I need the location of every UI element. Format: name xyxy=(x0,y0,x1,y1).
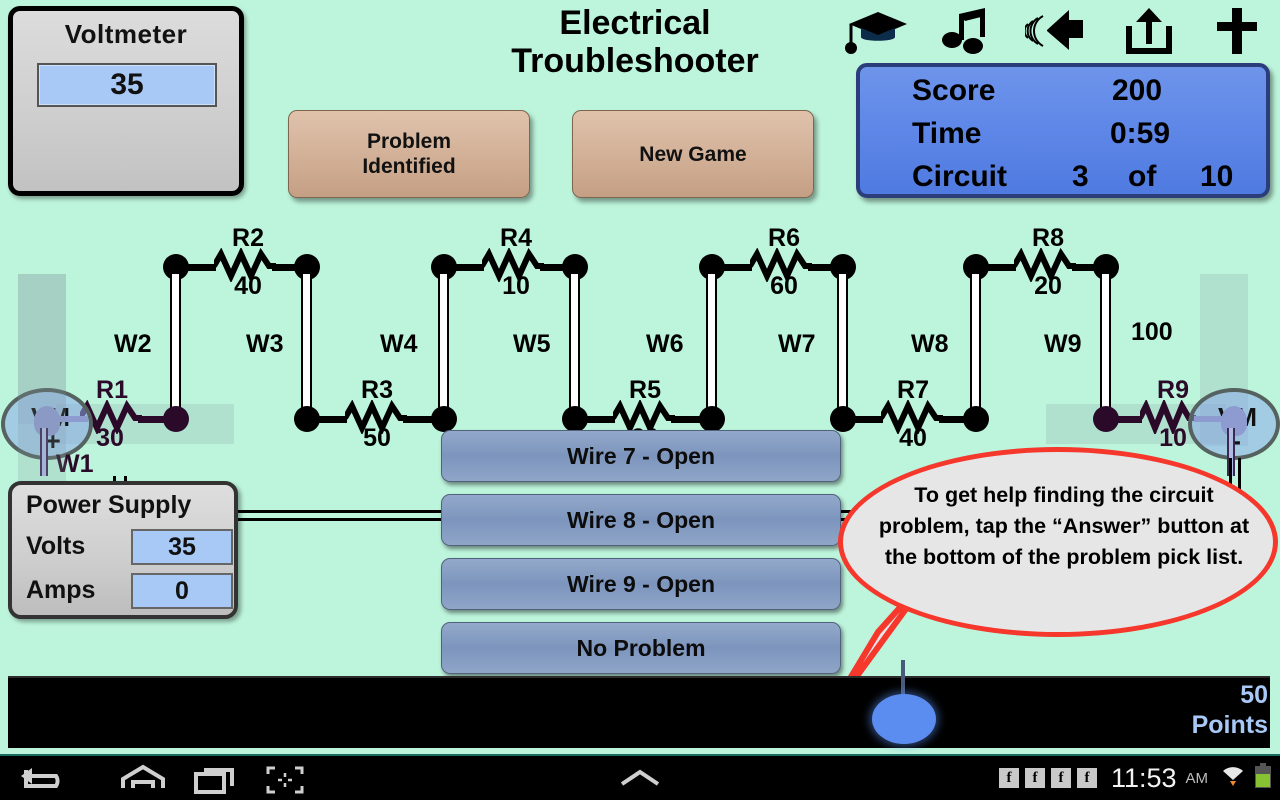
graduation-cap-icon[interactable] xyxy=(845,6,911,56)
wifi-icon[interactable] xyxy=(1220,763,1246,794)
page-title: Electrical Troubleshooter xyxy=(420,4,850,80)
problem-identified-label-line1: Problem xyxy=(362,129,455,154)
home-icon[interactable] xyxy=(113,764,173,796)
points-label: Points xyxy=(1128,710,1268,740)
app-screen: Voltmeter 35 Electrical Troubleshooter xyxy=(0,0,1280,800)
points-value: 50 xyxy=(1128,680,1268,710)
score-value: 200 xyxy=(1112,74,1162,108)
node-bot-3 xyxy=(431,406,457,432)
pick-item-wire7-open[interactable]: Wire 7 - Open xyxy=(441,430,841,482)
circuit-label: Circuit xyxy=(912,160,1007,194)
points-indicator: 50 Points xyxy=(1128,680,1268,740)
probe-highlight-ps xyxy=(18,274,66,509)
volts-label: Volts xyxy=(26,532,85,561)
time-label: Time xyxy=(912,117,981,151)
voltmeter-title: Voltmeter xyxy=(13,19,239,50)
amps-field[interactable]: 0 xyxy=(131,573,233,609)
wire-seg xyxy=(722,264,752,271)
wire-w4[interactable] xyxy=(438,272,449,420)
wire-w3[interactable] xyxy=(301,272,312,420)
wire-seg xyxy=(186,264,216,271)
resistor-label-r3: R3 xyxy=(327,376,427,405)
voltmeter-panel: Voltmeter 35 xyxy=(8,6,244,196)
page-title-line1: Electrical xyxy=(420,4,850,42)
page-title-line2: Troubleshooter xyxy=(420,42,850,80)
system-clock: 11:53 xyxy=(1111,763,1177,794)
wire-seg xyxy=(853,416,883,423)
wire-w7[interactable] xyxy=(837,272,848,420)
wire-w6[interactable] xyxy=(706,272,717,420)
wire-label-w4: W4 xyxy=(380,330,418,359)
hint-bubble-text: To get help finding the circuit problem,… xyxy=(873,480,1255,573)
resistor-value-r4: 10 xyxy=(464,272,568,301)
wire-label-w3: W3 xyxy=(246,330,284,359)
resistor-label-r2: R2 xyxy=(196,224,300,253)
system-clock-meridiem: AM xyxy=(1186,770,1209,787)
resistor-label-r4: R4 xyxy=(464,224,568,253)
wire-label-w6: W6 xyxy=(646,330,684,359)
problem-identified-button[interactable]: Problem Identified xyxy=(288,110,530,198)
speaker-sound-icon[interactable] xyxy=(1025,6,1091,56)
probe-lead-right xyxy=(1194,416,1224,422)
time-value: 0:59 xyxy=(1110,117,1170,151)
pick-item-no-problem[interactable]: No Problem xyxy=(441,622,841,674)
problem-identified-label-line2: Identified xyxy=(362,154,455,179)
toolbar-icons xyxy=(845,2,1275,58)
wire-w8[interactable] xyxy=(970,272,981,420)
wire-label-w5: W5 xyxy=(513,330,551,359)
resistor-value-r6: 60 xyxy=(732,272,836,301)
resistor-value-r7: 40 xyxy=(863,424,963,453)
wire-label-w8: W8 xyxy=(911,330,949,359)
resistor-label-r5: R5 xyxy=(595,376,695,405)
resistor-label-r6: R6 xyxy=(732,224,836,253)
wire-w9[interactable] xyxy=(1100,272,1111,420)
new-game-button[interactable]: New Game xyxy=(572,110,814,198)
time-row: Time 0:59 xyxy=(860,117,1266,160)
cross-icon[interactable] xyxy=(1205,6,1271,56)
music-note-icon[interactable] xyxy=(935,6,1001,56)
circuit-total: 10 xyxy=(1200,160,1233,194)
power-supply-panel: Power Supply Volts 35 Amps 0 xyxy=(8,481,238,619)
resistor-value-r3: 50 xyxy=(327,424,427,453)
status-strip xyxy=(8,676,1270,748)
wire-w2[interactable] xyxy=(170,272,181,420)
resistor-label-r8: R8 xyxy=(996,224,1100,253)
facebook-notification-icon[interactable]: f xyxy=(999,768,1019,788)
amps-label: Amps xyxy=(26,576,95,605)
resistor-value-r8: 20 xyxy=(996,272,1100,301)
voltmeter-readout: 35 xyxy=(37,63,217,107)
wire-label-w9: W9 xyxy=(1044,330,1082,359)
load-value-label: 100 xyxy=(1131,318,1173,347)
hint-bubble[interactable]: To get help finding the circuit problem,… xyxy=(838,447,1278,637)
node-bot-5 xyxy=(699,406,725,432)
node-bot-7 xyxy=(963,406,989,432)
wire-seg xyxy=(317,416,347,423)
pendulum-ball[interactable] xyxy=(872,694,936,744)
back-icon[interactable] xyxy=(12,764,72,796)
pick-item-wire8-open[interactable]: Wire 8 - Open xyxy=(441,494,841,546)
share-upload-icon[interactable] xyxy=(1117,6,1183,56)
facebook-notification-icon[interactable]: f xyxy=(1077,768,1097,788)
wire-seg xyxy=(454,264,484,271)
score-panel: Score 200 Time 0:59 Circuit 3 of 10 xyxy=(856,63,1270,198)
wire-seg xyxy=(585,416,615,423)
wire-seg xyxy=(1116,416,1142,423)
screenshot-icon[interactable] xyxy=(262,764,322,796)
new-game-label: New Game xyxy=(639,142,746,167)
score-row: Score 200 xyxy=(860,74,1266,117)
circuit-current: 3 xyxy=(1072,160,1089,194)
resistor-value-r2: 40 xyxy=(196,272,300,301)
facebook-notification-icon[interactable]: f xyxy=(1025,768,1045,788)
circuit-row: Circuit 3 of 10 xyxy=(860,160,1266,203)
node-bot-1 xyxy=(163,406,189,432)
power-supply-title: Power Supply xyxy=(26,491,191,520)
recents-icon[interactable] xyxy=(188,764,248,796)
volts-field[interactable]: 35 xyxy=(131,529,233,565)
wire-w5[interactable] xyxy=(569,272,580,420)
wire-label-w2: W2 xyxy=(114,330,152,359)
expand-up-icon[interactable] xyxy=(612,764,668,796)
facebook-notification-icon[interactable]: f xyxy=(1051,768,1071,788)
system-status-icons: f f f f 11:53 AM xyxy=(999,756,1276,800)
wire-seg xyxy=(986,264,1016,271)
pick-item-wire9-open[interactable]: Wire 9 - Open xyxy=(441,558,841,610)
battery-icon[interactable] xyxy=(1254,763,1272,794)
circuit-of-label: of xyxy=(1128,160,1156,194)
score-label: Score xyxy=(912,74,995,108)
resistor-label-r7: R7 xyxy=(863,376,963,405)
wire-label-w7: W7 xyxy=(778,330,816,359)
